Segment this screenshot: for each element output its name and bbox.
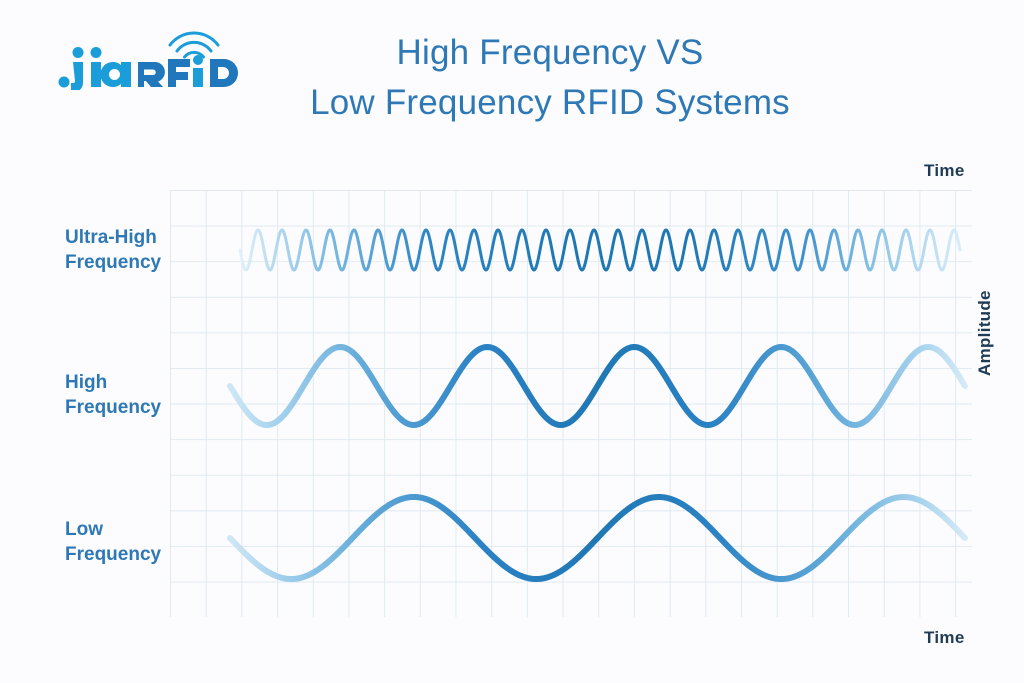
infographic-poster: High Frequency VS Low Frequency RFID Sys… bbox=[0, 0, 1024, 683]
waveform-ultra-high-frequency bbox=[240, 230, 960, 270]
jiarfid-logo bbox=[58, 22, 258, 90]
logo-wordmark bbox=[59, 47, 239, 90]
page-title: High Frequency VS Low Frequency RFID Sys… bbox=[270, 28, 830, 128]
title-line-2: Low Frequency RFID Systems bbox=[270, 78, 830, 128]
wifi-signal-icon bbox=[170, 33, 218, 57]
waveform-low-frequency bbox=[230, 497, 965, 579]
waveform-high-frequency bbox=[230, 347, 965, 425]
logo-graphic bbox=[58, 22, 258, 90]
chart-waveforms bbox=[170, 190, 972, 617]
axis-label-time-top: Time bbox=[924, 161, 965, 181]
waveform-chart bbox=[170, 190, 972, 617]
title-line-1: High Frequency VS bbox=[270, 28, 830, 78]
axis-label-amplitude: Amplitude bbox=[975, 256, 995, 376]
axis-label-time-bottom: Time bbox=[924, 628, 965, 648]
